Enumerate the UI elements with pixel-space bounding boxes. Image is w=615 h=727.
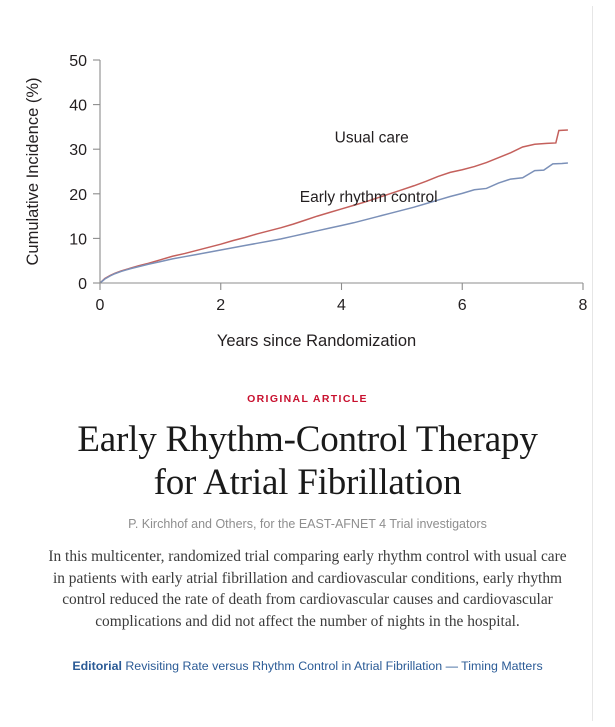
article-byline: P. Kirchhof and Others, for the EAST-AFN… [0,516,615,532]
article-kicker: Original Article [0,392,615,406]
cumulative-incidence-chart: 0246801020304050Years since Randomizatio… [0,22,615,352]
y-tick-label: 30 [69,142,87,159]
x-tick-label: 2 [216,297,225,314]
y-axis-title: Cumulative Incidence (%) [24,78,42,266]
x-tick-label: 6 [458,297,467,314]
series-label-2: Early rhythm control [300,189,438,206]
y-tick-label: 50 [69,53,87,70]
editorial-link[interactable]: Editorial Revisiting Rate versus Rhythm … [0,658,615,675]
x-tick-label: 4 [337,297,346,314]
x-tick-label: 0 [96,297,105,314]
title-line-2: for Atrial Fibrillation [154,462,462,503]
y-tick-label: 20 [69,187,87,204]
y-tick-label: 40 [69,98,87,115]
chart-svg: 0246801020304050Years since Randomizatio… [0,22,615,352]
editorial-title: Revisiting Rate versus Rhythm Control in… [125,659,542,673]
article-preview-page: 0246801020304050Years since Randomizatio… [0,0,615,727]
y-tick-label: 10 [69,231,87,248]
page-title: Early Rhythm-Control Therapy for Atrial … [58,418,558,504]
title-line-1: Early Rhythm-Control Therapy [77,419,537,460]
editorial-tag: Editorial [72,659,122,673]
x-tick-label: 8 [579,297,588,314]
y-tick-label: 0 [78,276,87,293]
series-curve-2 [100,163,568,283]
series-label-1: Usual care [335,130,409,147]
article-block: Original Article Early Rhythm-Control Th… [0,392,615,675]
article-summary: In this multicenter, randomized trial co… [48,546,568,632]
x-axis-title: Years since Randomization [217,332,416,350]
